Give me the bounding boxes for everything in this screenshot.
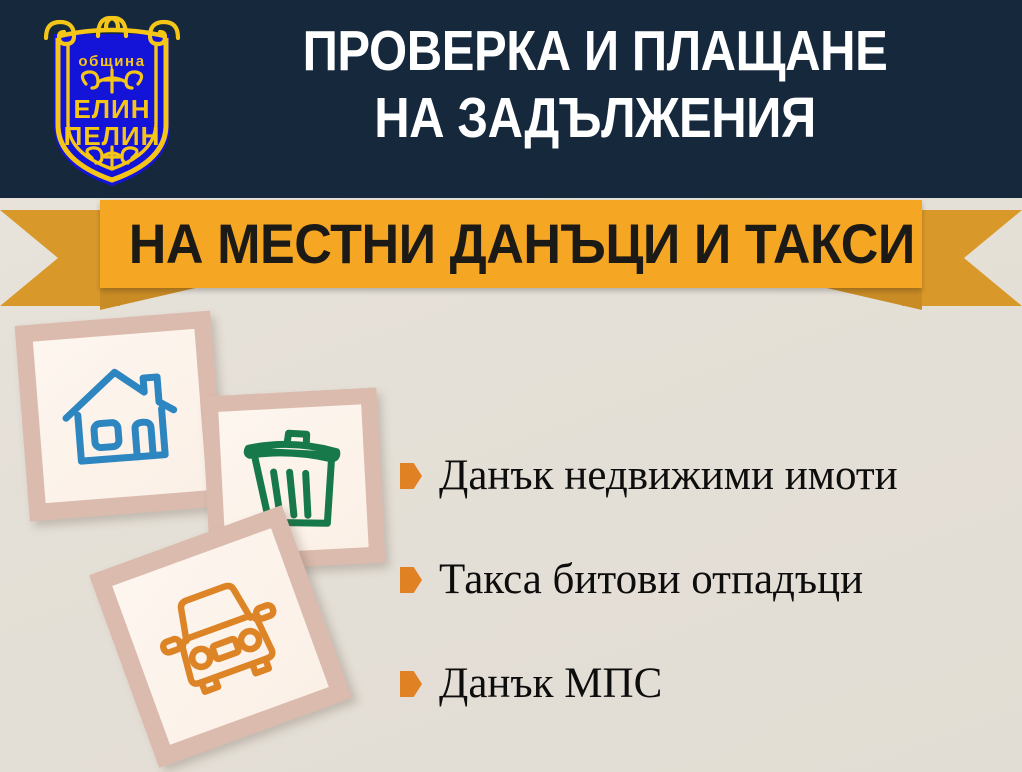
bullet-arrow-icon xyxy=(400,567,422,593)
svg-text:ЕЛИН: ЕЛИН xyxy=(73,94,150,124)
bullet-arrow-icon xyxy=(400,671,422,697)
stamp-inner-house xyxy=(33,329,207,503)
ribbon-label: НА МЕСТНИ ДАНЪЦИ И ТАКСИ xyxy=(129,200,893,288)
svg-text:община: община xyxy=(78,53,145,70)
list-item: Такса битови отпадъци xyxy=(400,528,1010,632)
subtitle-ribbon: НА МЕСТНИ ДАНЪЦИ И ТАКСИ xyxy=(0,198,1022,310)
list-item-label: Данък МПС xyxy=(439,661,662,706)
ribbon-fold-right xyxy=(818,286,922,310)
header-banner: община ЕЛИН ПЕЛИН xyxy=(0,0,1022,198)
municipality-crest-logo: община ЕЛИН ПЕЛИН xyxy=(36,8,188,190)
poster-canvas: община ЕЛИН ПЕЛИН xyxy=(0,0,1022,772)
page-title: ПРОВЕРКА И ПЛАЩАНЕ НА ЗАДЪЛЖЕНИЯ xyxy=(242,18,947,151)
ribbon-band: НА МЕСТНИ ДАНЪЦИ И ТАКСИ xyxy=(100,200,922,288)
bullet-arrow-icon xyxy=(400,463,422,489)
page-title-line-1: ПРОВЕРКА И ПЛАЩАНЕ xyxy=(303,19,888,83)
stamp-card-house xyxy=(15,311,226,522)
list-item: Данък недвижими имоти xyxy=(400,424,1010,528)
list-item: Данък МПС xyxy=(400,632,1010,736)
car-icon xyxy=(144,566,296,706)
house-icon xyxy=(56,359,184,472)
tax-type-list: Данък недвижими имоти Такса битови отпад… xyxy=(400,424,1010,736)
page-title-line-2: НА ЗАДЪЛЖЕНИЯ xyxy=(242,85,947,152)
ribbon-fold-left xyxy=(100,286,204,310)
list-item-label: Такса битови отпадъци xyxy=(439,557,863,602)
list-item-label: Данък недвижими имоти xyxy=(439,453,898,498)
